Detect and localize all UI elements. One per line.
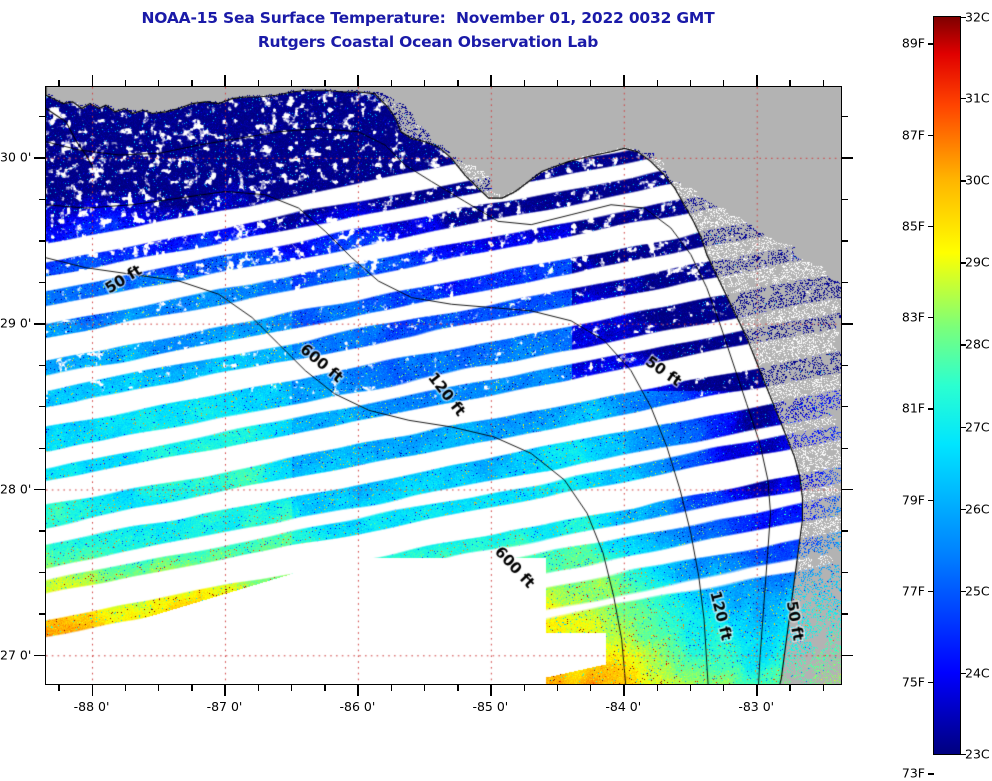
x-tick-minor-top [191,80,192,86]
colorbar-tick-f [928,317,934,318]
x-tick-minor-top [58,80,59,86]
y-tick-minor [39,116,45,117]
y-tick-minor [39,572,45,573]
colorbar-label-fahrenheit: 77F [875,583,925,598]
x-tick-major [92,685,93,696]
y-tick-major [34,157,45,158]
sst-map-page: NOAA-15 Sea Surface Temperature: Novembe… [0,0,992,770]
y-tick-minor-right [842,406,848,407]
colorbar-label-fahrenheit: 87F [875,127,925,142]
y-tick-minor-right [842,282,848,283]
x-tick-minor [424,685,425,691]
y-tick-minor-right [842,572,848,573]
colorbar-tick-f [928,226,934,227]
x-axis-label: -87 0' [207,699,243,714]
x-axis-label: -83 0' [738,699,774,714]
x-tick-minor [823,685,824,691]
y-tick-minor-right [842,365,848,366]
x-tick-minor-top [823,80,824,86]
y-tick-minor-right [842,199,848,200]
x-tick-minor-top [158,80,159,86]
y-tick-minor [39,530,45,531]
x-tick-major [224,685,225,696]
y-tick-minor-right [842,530,848,531]
y-tick-minor [39,448,45,449]
x-tick-major-top [357,75,358,86]
x-tick-minor [789,685,790,691]
x-tick-major-top [756,75,757,86]
x-tick-minor-top [789,80,790,86]
colorbar-tick-f [928,408,934,409]
sst-map-plot[interactable] [45,86,842,685]
x-tick-major-top [490,75,491,86]
y-tick-minor [39,240,45,241]
y-axis-label: 27 0' [0,647,31,662]
colorbar-tick-f [928,500,934,501]
colorbar-tick-f [928,682,934,683]
y-tick-minor [39,282,45,283]
colorbar-label-fahrenheit: 73F [875,766,925,781]
x-tick-major-top [224,75,225,86]
y-axis-label: 28 0' [0,481,31,496]
x-tick-major [490,685,491,696]
x-tick-major [756,685,757,696]
sst-raster [46,87,841,684]
x-axis-label: -85 0' [472,699,508,714]
colorbar-tick-f [928,591,934,592]
x-tick-minor [657,685,658,691]
colorbar-tick-f [928,135,934,136]
x-tick-minor [391,685,392,691]
colorbar-label-fahrenheit: 85F [875,218,925,233]
title-line-1: NOAA-15 Sea Surface Temperature: Novembe… [0,6,856,30]
x-tick-minor-top [258,80,259,86]
x-tick-major [357,685,358,696]
colorbar-label-celsius: 23C [965,747,990,762]
x-axis-label: -84 0' [605,699,641,714]
x-tick-minor-top [657,80,658,86]
colorbar-label-fahrenheit: 79F [875,492,925,507]
y-tick-minor [39,406,45,407]
colorbar-label-celsius: 26C [965,501,990,516]
x-tick-major-top [92,75,93,86]
colorbar-gradient [933,16,961,755]
colorbar-label-fahrenheit: 83F [875,310,925,325]
x-tick-minor-top [524,80,525,86]
x-tick-minor [557,685,558,691]
x-tick-minor-top [324,80,325,86]
x-tick-minor [58,685,59,691]
colorbar-label-celsius: 27C [965,419,990,434]
y-tick-minor-right [842,116,848,117]
x-tick-minor-top [125,80,126,86]
colorbar-tick-f [928,773,934,774]
colorbar-label-celsius: 32C [965,10,990,25]
x-tick-minor-top [391,80,392,86]
colorbar-label-celsius: 24C [965,665,990,680]
y-tick-major-right [842,157,853,158]
x-tick-major-top [623,75,624,86]
x-tick-minor-top [723,80,724,86]
colorbar-label-fahrenheit: 75F [875,675,925,690]
y-tick-minor-right [842,448,848,449]
x-axis-label: -86 0' [340,699,376,714]
x-tick-major [623,685,624,696]
x-tick-minor-top [457,80,458,86]
y-tick-major-right [842,323,853,324]
x-tick-minor-top [690,80,691,86]
x-tick-minor [158,685,159,691]
x-tick-minor-top [291,80,292,86]
x-tick-minor [258,685,259,691]
x-tick-minor [291,685,292,691]
y-tick-minor [39,199,45,200]
x-tick-minor-top [590,80,591,86]
colorbar-label-fahrenheit: 89F [875,36,925,51]
title-line-2: Rutgers Coastal Ocean Observation Lab [0,30,856,54]
x-tick-minor [324,685,325,691]
x-tick-minor [690,685,691,691]
colorbar-label-celsius: 31C [965,91,990,106]
x-tick-minor [191,685,192,691]
colorbar[interactable] [933,16,961,755]
y-tick-minor [39,365,45,366]
colorbar-label-fahrenheit: 81F [875,401,925,416]
colorbar-label-celsius: 25C [965,583,990,598]
y-tick-minor [39,613,45,614]
x-axis-label: -88 0' [74,699,110,714]
x-tick-minor [125,685,126,691]
y-tick-major [34,323,45,324]
x-tick-minor [524,685,525,691]
y-axis-label: 29 0' [0,316,31,331]
y-tick-major-right [842,489,853,490]
colorbar-label-celsius: 28C [965,337,990,352]
x-tick-minor [457,685,458,691]
x-tick-minor [590,685,591,691]
x-tick-minor-top [424,80,425,86]
y-tick-major [34,655,45,656]
y-tick-minor-right [842,240,848,241]
y-axis-label: 30 0' [0,150,31,165]
x-tick-minor [723,685,724,691]
page-title: NOAA-15 Sea Surface Temperature: Novembe… [0,6,856,54]
colorbar-tick-f [928,43,934,44]
colorbar-label-celsius: 29C [965,255,990,270]
y-tick-major [34,489,45,490]
colorbar-label-celsius: 30C [965,173,990,188]
y-tick-minor-right [842,613,848,614]
x-tick-minor-top [557,80,558,86]
y-tick-major-right [842,655,853,656]
